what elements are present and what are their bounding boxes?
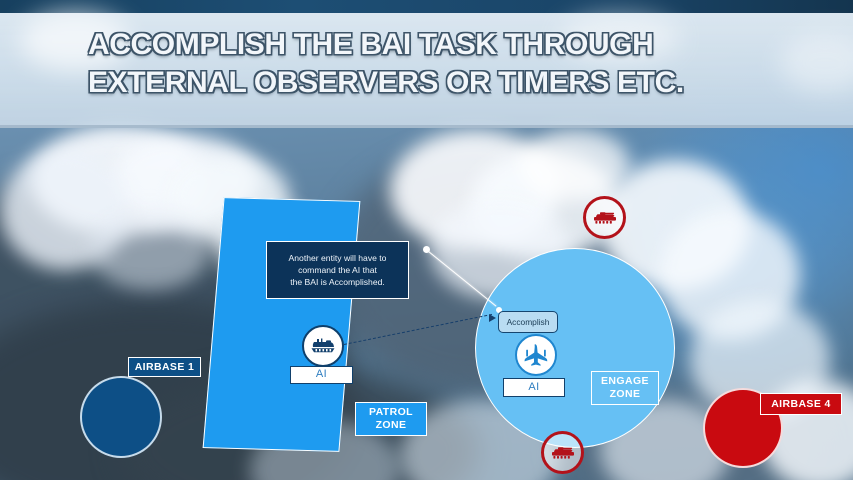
tank-prohibited-icon bbox=[592, 211, 618, 225]
callout-textbox: Another entity will have to command the … bbox=[266, 241, 409, 299]
command-link-arrow bbox=[339, 314, 492, 346]
airbase-1-label[interactable]: AIRBASE 1 bbox=[128, 357, 201, 377]
presentation-slide: AIRBASE 1 AIRBASE 4 PATROL ZONE ENGAGE Z… bbox=[0, 0, 853, 480]
engage-zone-area[interactable] bbox=[475, 248, 675, 448]
cumulus-cloud bbox=[660, 210, 800, 340]
tank-prohibited-icon bbox=[550, 446, 576, 460]
callout-leader-origin-dot bbox=[423, 246, 430, 253]
cumulus-cloud bbox=[30, 125, 210, 235]
cumulus-cloud bbox=[520, 130, 630, 200]
engage-zone-label[interactable]: ENGAGE ZONE bbox=[591, 371, 659, 405]
top-accent-strip bbox=[0, 0, 853, 13]
airbase-4-label[interactable]: AIRBASE 4 bbox=[760, 393, 842, 415]
aircraft-entity-label[interactable]: AI bbox=[503, 378, 565, 397]
ship-icon bbox=[310, 338, 336, 354]
patrol-zone-area[interactable] bbox=[203, 197, 361, 452]
jet-icon bbox=[523, 343, 549, 367]
cumulus-cloud bbox=[390, 130, 560, 250]
hostile-tank-marker[interactable] bbox=[541, 431, 584, 474]
slide-title: ACCOMPLISH THE BAI TASK THROUGH EXTERNAL… bbox=[88, 26, 788, 103]
aircraft-entity-marker[interactable] bbox=[515, 334, 557, 376]
airbase-1-marker[interactable] bbox=[80, 376, 162, 458]
callout-leader-line bbox=[424, 248, 496, 307]
cumulus-cloud bbox=[0, 150, 130, 270]
ship-entity-marker[interactable] bbox=[302, 325, 344, 367]
cumulus-cloud bbox=[90, 210, 210, 290]
ship-entity-label[interactable]: AI bbox=[290, 366, 353, 384]
accomplish-button[interactable]: Accomplish bbox=[498, 311, 558, 333]
hostile-tank-marker[interactable] bbox=[583, 196, 626, 239]
patrol-zone-label[interactable]: PATROL ZONE bbox=[355, 402, 427, 436]
title-banner bbox=[0, 13, 853, 128]
